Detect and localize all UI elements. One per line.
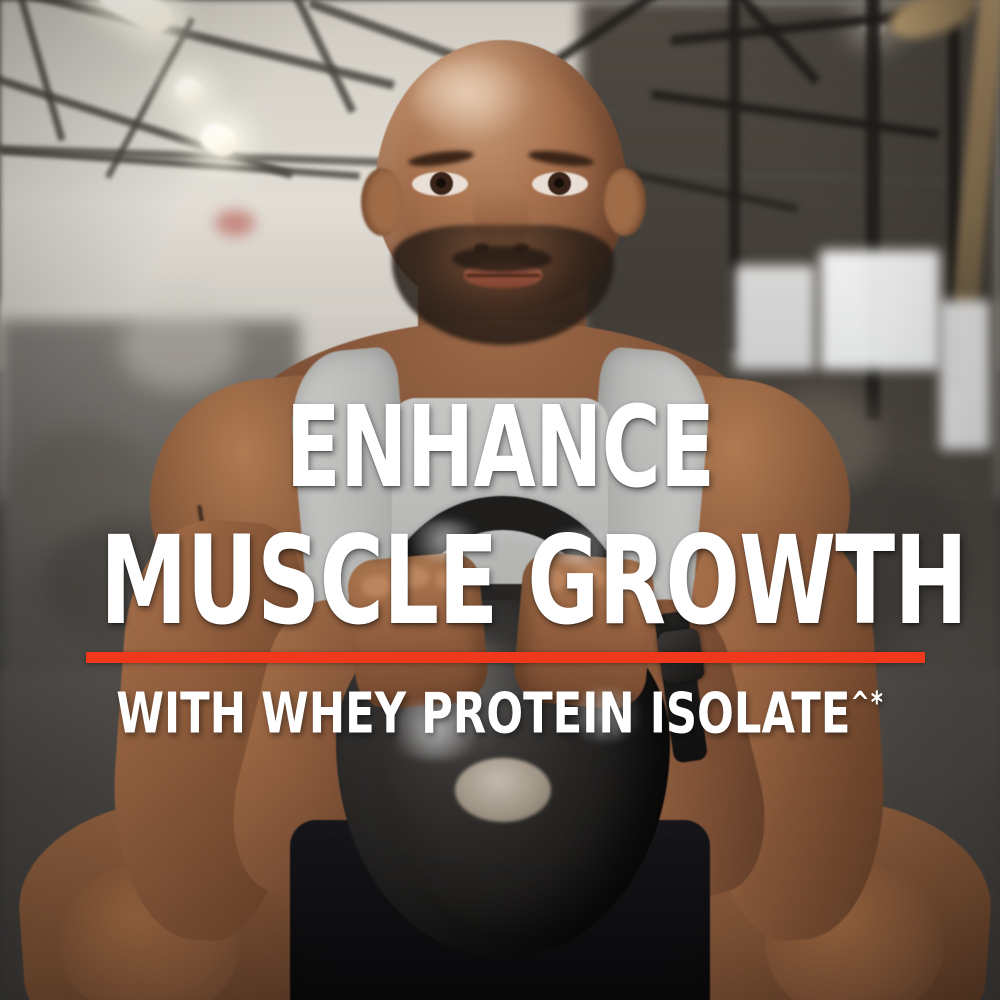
promo-banner: ENHANCE MUSCLE GROWTH WITH WHEY PROTEIN …: [0, 0, 1000, 1000]
subheadline-text: WITH WHEY PROTEIN ISOLATE: [116, 682, 850, 747]
accent-divider-rule: [86, 652, 925, 663]
headline-line-2: MUSCLE GROWTH: [100, 520, 900, 642]
subheadline-superscript: ^*: [850, 686, 883, 721]
subheadline: WITH WHEY PROTEIN ISOLATE^*: [70, 676, 930, 743]
headline-line-1: ENHANCE: [100, 392, 900, 504]
text-overlay: ENHANCE MUSCLE GROWTH WITH WHEY PROTEIN …: [0, 0, 1000, 1000]
